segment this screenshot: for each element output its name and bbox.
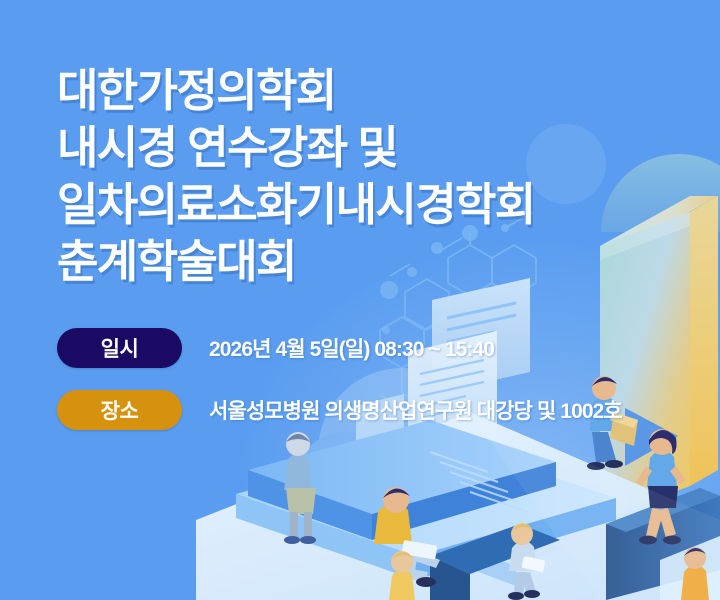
title-line-2: 내시경 연수강좌 및 <box>57 119 535 176</box>
figure-bottom-right <box>681 547 709 600</box>
title-line-4: 춘계학술대회 <box>57 233 535 290</box>
event-info: 일시 2026년 4월 5일(일) 08:30 ~ 15:40 장소 서울성모병… <box>57 328 622 452</box>
date-value: 2026년 4월 5일(일) 08:30 ~ 15:40 <box>209 333 494 363</box>
place-value: 서울성모병원 의생명산업연구원 대강당 및 1002호 <box>209 395 622 425</box>
figure-sitting <box>374 487 440 587</box>
figure-sitting-right <box>508 523 546 600</box>
figure-bottom-blond <box>389 551 415 600</box>
left-box <box>596 488 706 530</box>
conference-banner: 대한가정의학회 내시경 연수강좌 및 일차의료소화기내시경학회 춘계학술대회 일… <box>0 0 720 600</box>
title-line-1: 대한가정의학회 <box>57 62 535 119</box>
date-badge: 일시 <box>57 328 182 368</box>
figure-walking-right <box>636 429 686 545</box>
page-title: 대한가정의학회 내시경 연수강좌 및 일차의료소화기내시경학회 춘계학술대회 <box>57 62 535 290</box>
info-row-place: 장소 서울성모병원 의생명산업연구원 대강당 및 1002호 <box>57 390 622 430</box>
title-line-3: 일차의료소화기내시경학회 <box>57 176 535 233</box>
place-badge: 장소 <box>57 390 182 430</box>
info-row-date: 일시 2026년 4월 5일(일) 08:30 ~ 15:40 <box>57 328 622 368</box>
dome-shape <box>601 154 720 232</box>
